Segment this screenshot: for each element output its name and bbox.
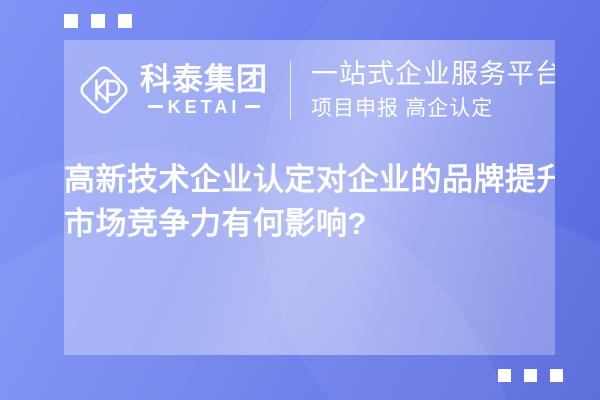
banner-header: 科泰集团 KETAI 一站式企业服务平台 项目申报 高企认定: [64, 40, 555, 140]
decor-square-6: [550, 369, 563, 382]
top-left-dots: [64, 14, 132, 28]
header-divider: [290, 61, 291, 119]
brand-name-en-row: KETAI: [148, 98, 261, 116]
tagline-sub: 项目申报 高企认定: [311, 94, 555, 122]
decor-square-5: [524, 369, 537, 382]
tagline-main: 一站式企业服务平台: [311, 58, 555, 90]
brand-text: 科泰集团 KETAI: [140, 64, 268, 116]
brand-name-cn: 科泰集团: [140, 64, 268, 97]
page-title: 高新技术企业认定对企业的品牌提升和市场竞争力有何影响?: [64, 158, 555, 247]
brand-name-en: KETAI: [168, 98, 241, 116]
brand-rule-left: [148, 105, 163, 108]
content-panel: 科泰集团 KETAI 一站式企业服务平台 项目申报 高企认定 高新技术企业认定对…: [64, 40, 555, 355]
brand-lockup: 科泰集团 KETAI: [76, 62, 268, 118]
decor-square-4: [498, 369, 511, 382]
ketai-diamond-logo-icon: [76, 62, 132, 118]
decor-square-2: [91, 14, 105, 28]
tagline-block: 一站式企业服务平台 项目申报 高企认定: [311, 58, 555, 122]
banner-canvas: 科泰集团 KETAI 一站式企业服务平台 项目申报 高企认定 高新技术企业认定对…: [0, 0, 600, 400]
bottom-right-dots: [498, 369, 563, 382]
decor-square-1: [64, 14, 78, 28]
brand-rule-right: [245, 105, 260, 108]
decor-square-3: [118, 14, 132, 28]
